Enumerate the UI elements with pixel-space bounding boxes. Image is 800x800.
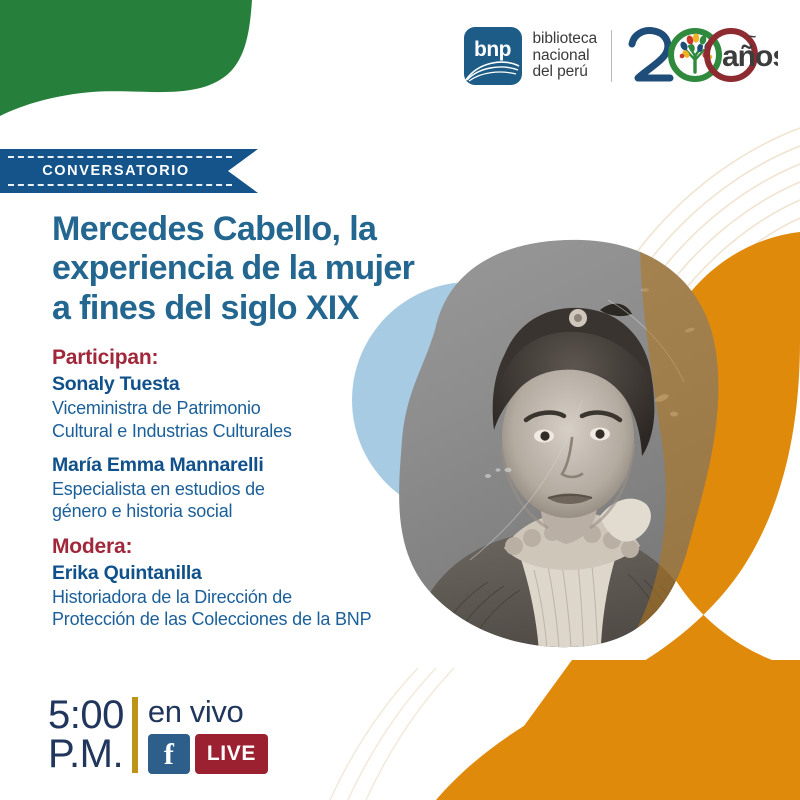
- bnp-logo-wordmark: biblioteca nacional del perú: [533, 31, 598, 81]
- participant-2-role-line2: género e historia social: [52, 500, 472, 523]
- logo-divider: [611, 30, 612, 82]
- line-pattern: [572, 128, 800, 490]
- title-line-3: a fines del siglo XIX: [52, 289, 472, 328]
- live-badge: LIVE: [195, 734, 268, 774]
- participants-heading: Participan:: [52, 346, 472, 370]
- moderator-name: Erika Quintanilla: [52, 562, 472, 586]
- participant-2-role: Especialista en estudios de género e his…: [52, 478, 472, 523]
- participant-1-role-line2: Cultural e Industrias Culturales: [52, 420, 472, 443]
- bnp-word-line3: del perú: [533, 64, 598, 81]
- live-badges: f LIVE: [148, 734, 268, 774]
- poster-root: bnp biblioteca nacional del perú: [0, 0, 800, 800]
- bnp-word-line2: nacional: [533, 48, 598, 65]
- moderator-role: Historiadora de la Dirección de Protecci…: [52, 586, 472, 631]
- participant-1-role-line1: Viceministra de Patrimonio: [52, 397, 472, 420]
- bnp-logo: bnp biblioteca nacional del perú: [464, 27, 598, 85]
- ribbon-dash-bottom: [8, 184, 232, 186]
- orange-bottom-wedge: [470, 660, 800, 800]
- ribbon-dash-top: [8, 156, 232, 158]
- green-wave-shape: [0, 0, 252, 116]
- participant-2: María Emma Mannarelli Especialista en es…: [52, 454, 472, 523]
- participant-1-name: Sonaly Tuesta: [52, 373, 472, 397]
- en-vivo-label: en vivo: [148, 696, 268, 727]
- orange-shape: [436, 232, 800, 800]
- moderator-heading: Modera:: [52, 535, 472, 559]
- moderator-role-line2: Protección de las Colecciones de la BNP: [52, 608, 472, 631]
- footer-live-info: 5:00 P.M. en vivo f LIVE: [48, 696, 268, 774]
- bnp-word-line1: biblioteca: [533, 31, 598, 48]
- live-block: en vivo f LIVE: [148, 696, 268, 774]
- event-time: 5:00 P.M.: [48, 696, 132, 774]
- participant-2-name: María Emma Mannarelli: [52, 454, 472, 478]
- svg-text:~: ~: [748, 28, 756, 44]
- logo-bar: bnp biblioteca nacional del perú: [464, 20, 779, 92]
- event-title: Mercedes Cabello, la experiencia de la m…: [52, 210, 472, 328]
- bnp-swoosh-icon: [464, 56, 522, 82]
- bnp-logo-mark: bnp: [464, 27, 522, 85]
- event-time-line1: 5:00: [48, 696, 124, 735]
- anniversary-logo: años ~: [626, 26, 778, 86]
- facebook-f-glyph: f: [164, 740, 174, 770]
- participant-1: Sonaly Tuesta Viceministra de Patrimonio…: [52, 373, 472, 442]
- line-pattern-left: [330, 668, 454, 800]
- svg-text:años: años: [722, 40, 778, 73]
- facebook-icon[interactable]: f: [148, 734, 190, 774]
- title-line-1: Mercedes Cabello, la: [52, 210, 472, 249]
- ribbon-notch: [228, 149, 258, 193]
- anniversary-logo-icon: años ~: [626, 26, 778, 86]
- event-time-line2: P.M.: [48, 735, 124, 774]
- moderator: Erika Quintanilla Historiadora de la Dir…: [52, 562, 472, 631]
- participant-2-role-line1: Especialista en estudios de: [52, 478, 472, 501]
- gold-divider: [132, 697, 138, 773]
- conversatorio-ribbon: CONVERSATORIO: [0, 149, 258, 193]
- title-line-2: experiencia de la mujer: [52, 249, 472, 288]
- moderator-role-line1: Historiadora de la Dirección de: [52, 586, 472, 609]
- participant-1-role: Viceministra de Patrimonio Cultural e In…: [52, 397, 472, 442]
- main-content: Mercedes Cabello, la experiencia de la m…: [52, 210, 472, 643]
- ribbon-label: CONVERSATORIO: [42, 163, 216, 179]
